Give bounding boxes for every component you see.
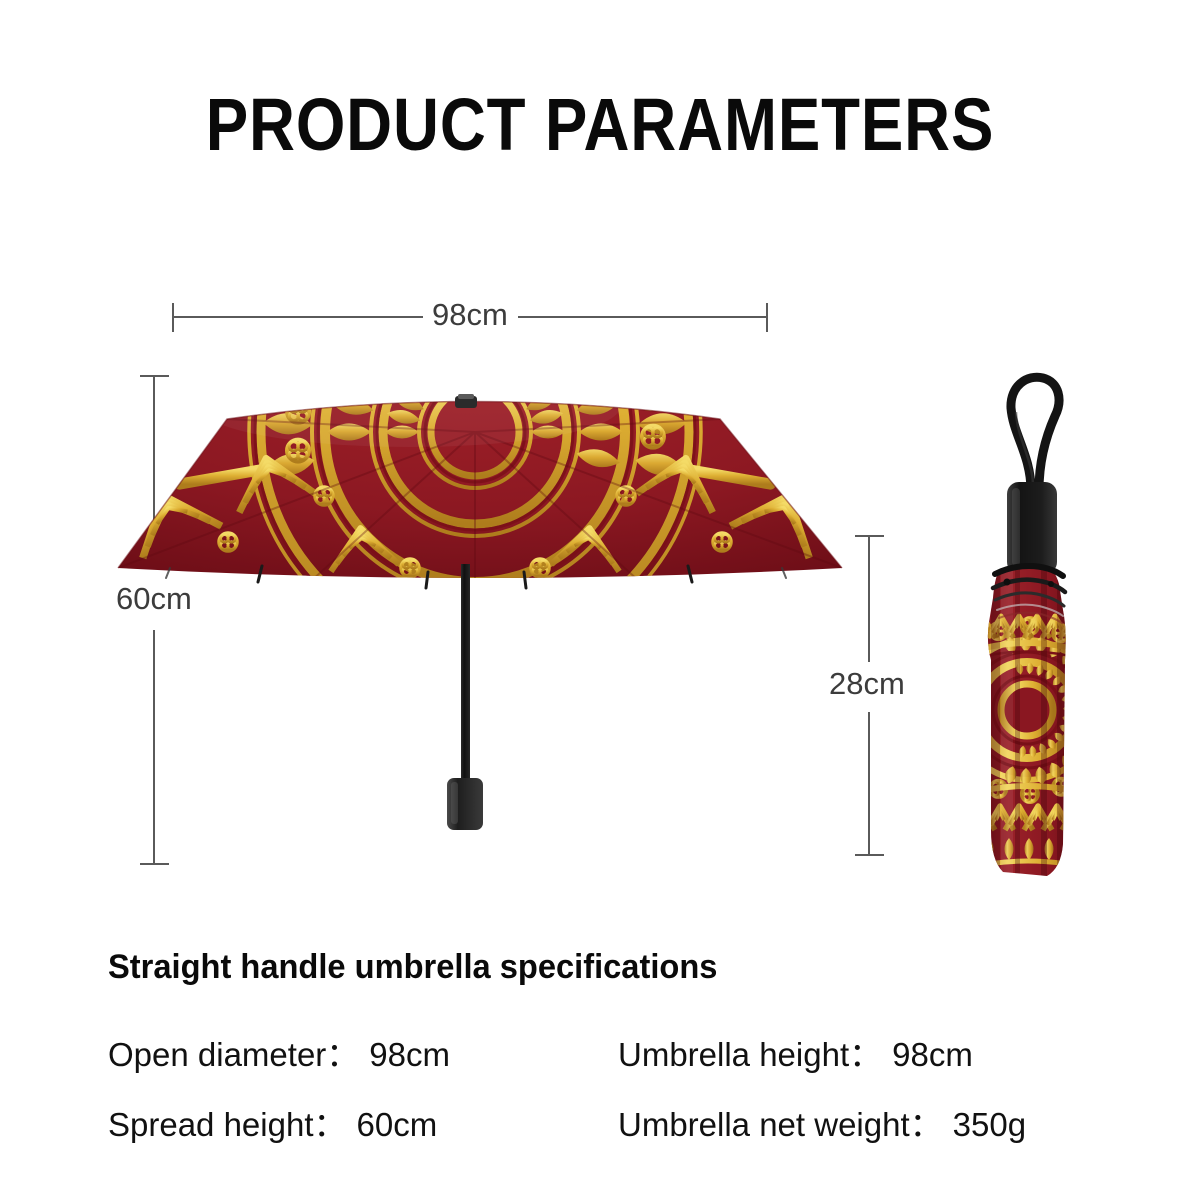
canopy-fabric (110, 392, 850, 658)
spec-row-umbrella-height: Umbrella height：98cm (618, 1028, 973, 1076)
page-title: PRODUCT PARAMETERS (84, 82, 1116, 167)
spec-value-open-diameter: 98cm (369, 1036, 450, 1073)
wrist-strap (1011, 377, 1059, 490)
canopy-finial-highlight (458, 394, 474, 399)
spec-label-spread-height: Spread height： (108, 1106, 347, 1143)
product-parameters-infographic: PRODUCT PARAMETERS 98cm 60cm 28cm (0, 0, 1200, 1200)
spec-heading: Straight handle umbrella specifications (108, 948, 717, 987)
spec-value-umbrella-height: 98cm (892, 1036, 973, 1073)
folded-umbrella-illustration (955, 360, 1105, 895)
handle-highlight (451, 782, 458, 824)
spec-value-spread-height: 60cm (357, 1106, 438, 1143)
dimension-line-folded-height-bottom (868, 712, 870, 855)
dimension-label-open-diameter: 98cm (432, 297, 508, 333)
spec-label-open-diameter: Open diameter： (108, 1036, 359, 1073)
dimension-line-open-diameter-left (173, 316, 423, 318)
dimension-line-folded-height-top (868, 536, 870, 662)
open-umbrella-illustration (110, 392, 850, 842)
folded-handle-highlight (1012, 488, 1020, 566)
spec-value-net-weight: 350g (953, 1106, 1026, 1143)
spec-row-net-weight: Umbrella net weight：350g (618, 1098, 1026, 1146)
spec-row-open-diameter: Open diameter：98cm (108, 1028, 450, 1076)
dimension-line-open-diameter-right (518, 316, 768, 318)
umbrella-shaft (461, 564, 470, 786)
spec-row-spread-height: Spread height：60cm (108, 1098, 437, 1146)
spec-label-net-weight: Umbrella net weight： (618, 1106, 943, 1143)
folded-canopy-bundle (957, 555, 1105, 895)
spec-label-umbrella-height: Umbrella height： (618, 1036, 882, 1073)
